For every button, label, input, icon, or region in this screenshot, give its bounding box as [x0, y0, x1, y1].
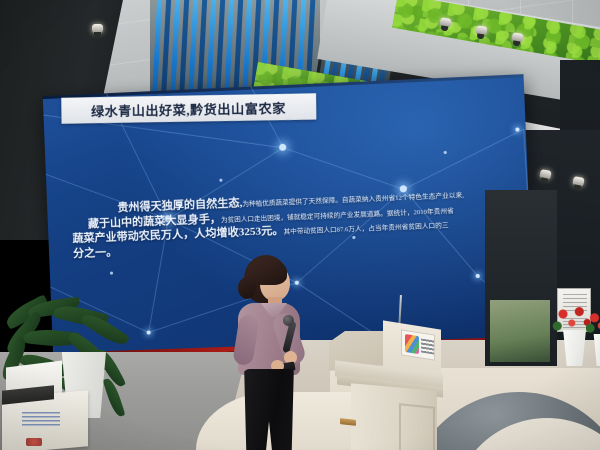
ceiling-spotlight	[439, 17, 451, 28]
podium-front-panel	[399, 403, 435, 450]
body-line-4-main: 分之一。	[73, 246, 118, 260]
logo-text-mark	[421, 338, 434, 354]
foreground-boxes	[2, 382, 128, 450]
podium	[327, 323, 443, 450]
doorway-glass	[490, 300, 550, 362]
screen-headline-banner: 绿水青山出好菜,黔货出山富农家	[61, 93, 316, 124]
hair-front	[247, 259, 287, 285]
ceiling-spotlight	[475, 25, 487, 36]
network-node-small	[219, 179, 222, 182]
box-stamp	[26, 438, 42, 446]
network-node-small	[110, 272, 113, 275]
ceiling-spotlight	[511, 32, 523, 43]
body-line-3-main: 蔬菜产业带动农民	[72, 230, 161, 246]
podium-logo	[401, 329, 435, 360]
red-flower-arrangement	[586, 310, 600, 336]
ceiling-spotlight	[539, 169, 552, 180]
trousers	[242, 369, 296, 450]
presenter-figure	[216, 255, 320, 450]
microphone-head	[283, 315, 294, 326]
podium-handle	[340, 418, 356, 426]
ceiling-spotlight	[92, 24, 103, 33]
logo-colored-mark	[405, 334, 419, 354]
network-node-small	[444, 151, 447, 154]
ceiling-spotlight	[572, 176, 585, 187]
presentation-scene-photo: 绿水青山出好菜,黔货出山富农家 贵州得天独厚的自然生态,为种植优质蔬菜提供了天然…	[0, 0, 600, 450]
headline-text: 绿水青山出好菜,黔货出山富农家	[91, 97, 286, 119]
box-label	[22, 412, 60, 426]
